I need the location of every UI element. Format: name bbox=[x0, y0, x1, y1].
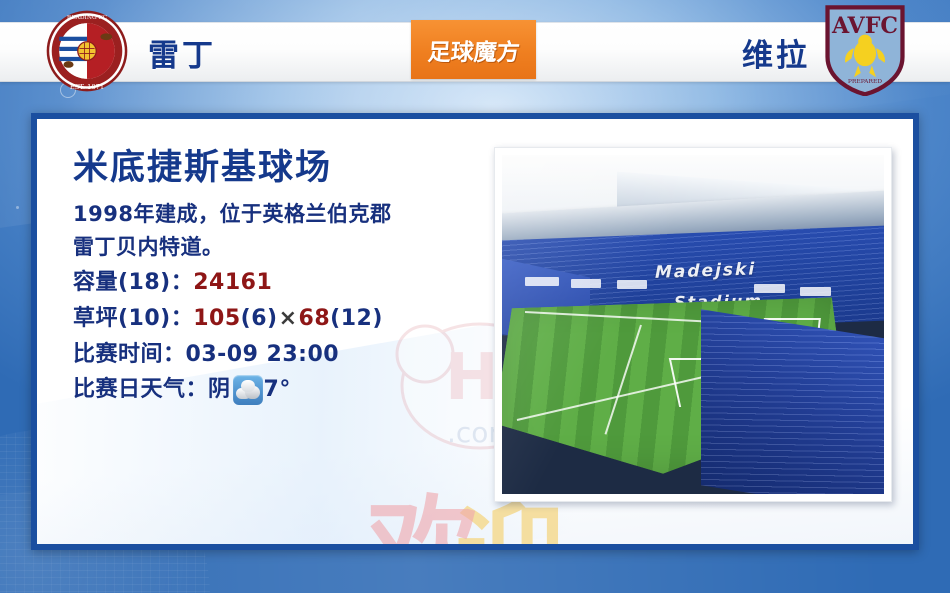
stadium-description-line-2: 雷丁贝内特道。 bbox=[73, 232, 493, 263]
pitch-length-rank: (6) bbox=[241, 301, 278, 337]
pitch-width-value: 68 bbox=[299, 301, 331, 337]
match-time-label: 比赛时间： bbox=[73, 337, 186, 373]
background-dot bbox=[16, 206, 19, 209]
multiply-symbol: × bbox=[278, 301, 299, 337]
weather-label: 比赛日天气： bbox=[73, 372, 208, 408]
photo-advert-board bbox=[800, 287, 831, 296]
capacity-value: 24161 bbox=[193, 265, 272, 301]
svg-text:PREPARED: PREPARED bbox=[848, 78, 882, 85]
photo-advert-board bbox=[571, 279, 602, 288]
watermark-char-secondary: 迎 bbox=[455, 501, 565, 550]
away-team-crest: AVFC PREPARED bbox=[822, 4, 908, 96]
weather-condition: 阴 bbox=[208, 372, 231, 408]
away-team-name: 维拉 bbox=[560, 28, 810, 76]
svg-text:READING FC: READING FC bbox=[67, 15, 108, 21]
match-time-value: 03-09 23:00 bbox=[186, 337, 340, 373]
stadium-info-block: 米底捷斯基球场 1998年建成，位于英格兰伯克郡 雷丁贝内特道。 容量(18)：… bbox=[73, 148, 503, 408]
capacity-row: 容量(18)： 24161 bbox=[73, 265, 503, 301]
photo-advert-board bbox=[617, 280, 648, 289]
site-logo[interactable]: 足球魔方 bbox=[411, 20, 536, 79]
photo-stand-right-seats bbox=[701, 309, 884, 494]
pitch-length-value: 105 bbox=[193, 301, 240, 337]
photo-advert-board bbox=[525, 277, 559, 286]
stadium-photo: Madejski Stadium bbox=[502, 155, 884, 494]
stadium-description-line-1: 1998年建成，位于英格兰伯克郡 bbox=[73, 199, 493, 230]
home-team-crest: EST. 1871 READING FC bbox=[45, 9, 129, 93]
svg-text:EST. 1871: EST. 1871 bbox=[70, 83, 104, 91]
capacity-label: 容量(18)： bbox=[73, 265, 193, 301]
watermark-char-primary: 欢 bbox=[367, 494, 479, 550]
pitch-width-rank: (12) bbox=[330, 301, 383, 337]
stadium-info-card: EST. 1871 READING FC AVFC PREPARED 雷丁 维拉… bbox=[0, 0, 950, 593]
cloudy-icon bbox=[233, 375, 263, 405]
weather-temperature: 7° bbox=[264, 372, 291, 408]
site-logo-text: 足球魔方 bbox=[426, 33, 520, 67]
photo-advert-board bbox=[754, 284, 785, 293]
stadium-photo-frame[interactable]: Madejski Stadium bbox=[494, 147, 892, 502]
pitch-label: 草坪(10)： bbox=[73, 301, 193, 337]
match-time-row: 比赛时间： 03-09 23:00 bbox=[73, 337, 503, 373]
match-weather-row: 比赛日天气： 阴 7° bbox=[73, 372, 503, 408]
stadium-title: 米底捷斯基球场 bbox=[73, 148, 503, 189]
content-panel: H H .com 迎 欢 米底捷斯基球场 1998年建成，位于英格兰伯克郡 雷丁… bbox=[31, 113, 919, 550]
pitch-size-row: 草坪(10)： 105 (6) × 68 (12) bbox=[73, 301, 503, 337]
home-team-name: 雷丁 bbox=[148, 28, 398, 76]
